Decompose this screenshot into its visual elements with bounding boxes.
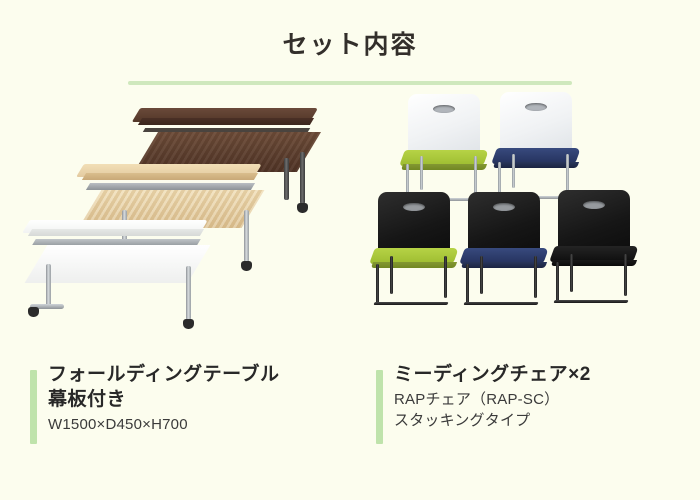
table-leg-left [46,264,51,306]
chair-skid-base [373,302,448,305]
chair-leg-rear-left [390,256,393,294]
chair-skid-base [553,300,628,303]
table-caster-right [183,319,194,329]
chair-leg-rear-left [570,254,573,292]
chair-leg-front-right [474,156,477,194]
chair-black-green [372,192,464,312]
chair-backrest [500,92,572,154]
table-caster-left [28,307,39,317]
chair-leg-front-right [444,256,447,298]
table-top-edge [138,118,314,125]
product-type-label: スタッキングタイプ [394,410,676,431]
product-title-meeting-chair: ミーディングチェア×2 [394,362,676,387]
folding-table-photo [18,92,358,350]
table-top-edge [28,229,204,236]
caption-folding-table: フォールディングテーブル 幕板付き W1500×D450×H700 [30,362,360,435]
table-modesty-panel [25,245,211,283]
caption-meeting-chair: ミーディングチェア×2 RAPチェア（RAP-SC） スタッキングタイプ [376,362,676,432]
table-leg-right [186,266,191,320]
meeting-chair-photo [372,92,692,350]
chair-backrest [378,192,450,254]
product-model-name: RAPチェア（RAP-SC） [394,389,676,410]
chair-leg-front-left [376,264,379,304]
chair-leg-front-right [534,256,537,298]
chair-black-black [552,190,644,310]
table-caster-right [297,203,308,213]
table-leg-rear [284,158,289,200]
caption-accent-bar [30,370,37,444]
header-divider [128,81,572,85]
product-spec-dimensions: W1500×D450×H700 [48,414,360,435]
chair-leg-rear-left [480,256,483,294]
banner-header: セット内容 [0,32,700,60]
table-frame-rail [86,183,255,190]
chair-backrest [408,94,480,156]
chair-skid-base [463,302,538,305]
chair-leg-rear-left [512,154,515,188]
page-title: セット内容 [0,32,700,60]
chair-leg-front-right [624,254,627,296]
table-leg-right [244,210,249,262]
product-photo-stage [0,92,700,350]
table-caster-right [241,261,252,271]
table-leg-right [300,152,305,204]
product-title-folding-table: フォールディングテーブル 幕板付き [48,362,360,412]
chair-black-navy [462,192,554,312]
chair-leg-rear-left [420,156,423,190]
chair-leg-front-right [566,154,569,192]
set-contents-banner: セット内容 [0,0,700,500]
chair-backrest [558,190,630,252]
caption-accent-bar [376,370,383,444]
chair-leg-front-left [466,264,469,304]
table-top-edge [82,173,258,180]
product-captions: フォールディングテーブル 幕板付き W1500×D450×H700 ミーディング… [0,362,700,462]
chair-backrest [468,192,540,254]
chair-leg-front-left [556,262,559,302]
